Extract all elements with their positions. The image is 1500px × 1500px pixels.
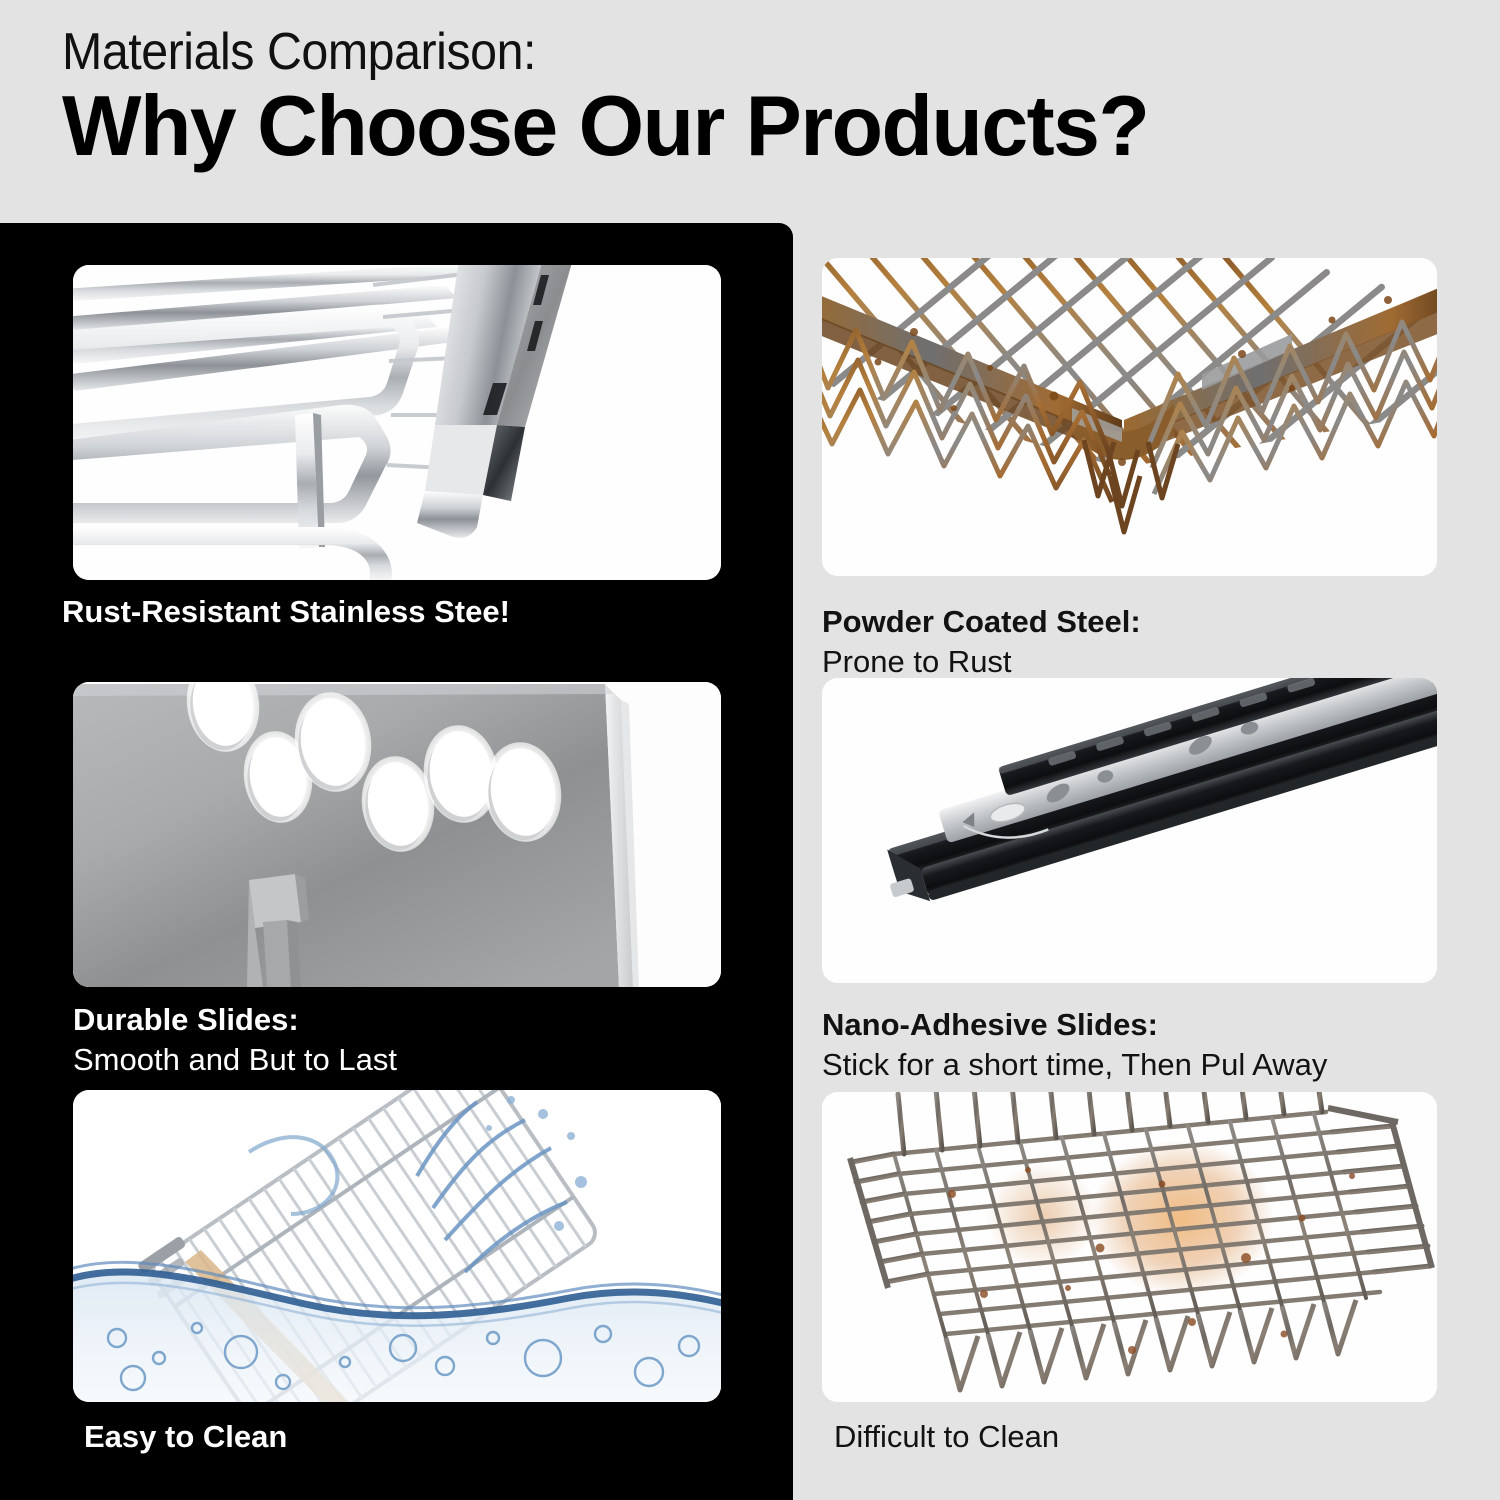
header: Materials Comparison: Why Choose Our Pro…: [0, 0, 1500, 223]
card-nano-adhesive-slides: [822, 678, 1437, 983]
eyebrow-title: Materials Comparison:: [62, 22, 536, 82]
rusty-mesh-basket-photo: [822, 258, 1437, 576]
card-easy-to-clean: [73, 1090, 721, 1402]
caption-rust-resistant: Rust-Resistant Stainless Stee!: [62, 592, 510, 632]
card-durable-slides: [73, 682, 721, 987]
caption-difficult-to-clean: Difficult to Clean: [834, 1417, 1059, 1457]
caption-title: Durable Slides:: [73, 1000, 397, 1040]
caption-title: Nano-Adhesive Slides:: [822, 1005, 1327, 1045]
card-difficult-to-clean: [822, 1092, 1437, 1402]
caption-easy-to-clean: Easy to Clean: [84, 1417, 287, 1457]
card-stainless-steel-rack: [73, 265, 721, 580]
page-title: Why Choose Our Products?: [62, 78, 1148, 176]
durable-slide-plate-photo: [73, 682, 721, 987]
card-powder-coated-steel: [822, 258, 1437, 576]
caption-subtitle: Prone to Rust: [822, 642, 1141, 682]
caption-powder-coated-steel: Powder Coated Steel: Prone to Rust: [822, 602, 1141, 681]
caption-nano-adhesive-slides: Nano-Adhesive Slides: Stick for a short …: [822, 1005, 1327, 1084]
infographic-page: Materials Comparison: Why Choose Our Pro…: [0, 0, 1500, 1500]
black-ball-bearing-slide-photo: [822, 678, 1437, 983]
caption-subtitle: Smooth and But to Last: [73, 1040, 397, 1080]
caption-title: Difficult to Clean: [834, 1417, 1059, 1457]
caption-title: Powder Coated Steel:: [822, 602, 1141, 642]
stained-wire-basket-photo: [822, 1092, 1437, 1402]
caption-title: Easy to Clean: [84, 1417, 287, 1457]
rack-in-water-splash-photo: [73, 1090, 721, 1402]
caption-title: Rust-Resistant Stainless Stee!: [62, 592, 510, 632]
stainless-steel-rack-photo: [73, 265, 721, 580]
caption-subtitle: Stick for a short time, Then Pul Away: [822, 1045, 1327, 1085]
caption-durable-slides: Durable Slides: Smooth and But to Last: [73, 1000, 397, 1079]
